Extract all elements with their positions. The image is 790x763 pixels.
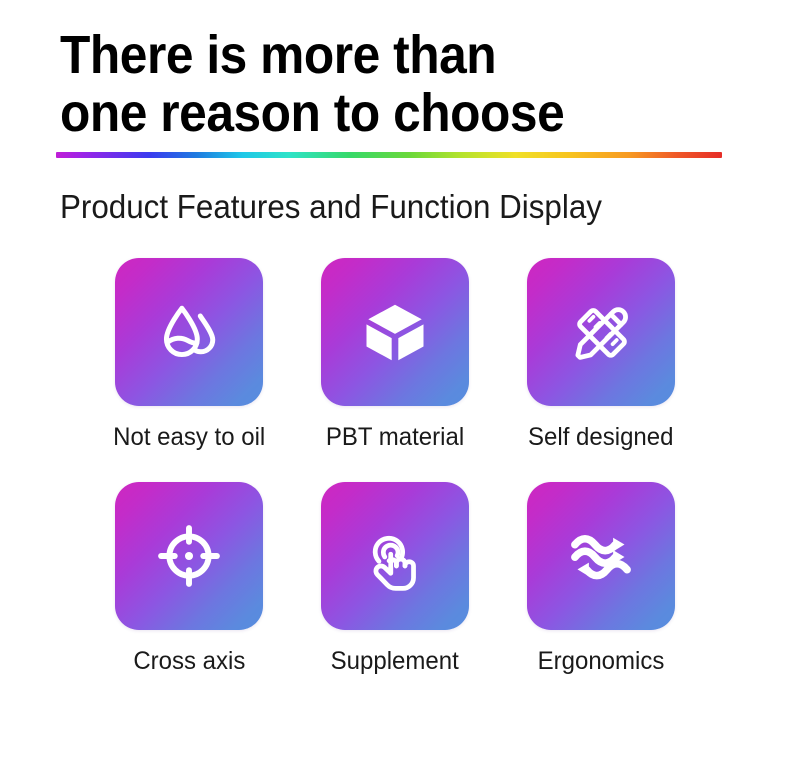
hand-tap-icon — [357, 518, 433, 594]
feature-tile — [527, 258, 675, 406]
feature-label: Supplement — [331, 646, 459, 676]
feature-label: Self designed — [528, 422, 673, 452]
feature-item-not-easy-to-oil[interactable]: Not easy to oil — [115, 258, 263, 452]
feature-item-supplement[interactable]: Supplement — [321, 482, 469, 676]
page-title-line-2: one reason to choose — [60, 84, 704, 142]
feature-label: Ergonomics — [538, 646, 665, 676]
cube-icon — [357, 294, 433, 370]
feature-item-self-designed[interactable]: Self designed — [527, 258, 675, 452]
page-title: There is more than one reason to choose — [60, 26, 760, 142]
water-drops-icon — [151, 294, 227, 370]
feature-tile — [115, 258, 263, 406]
airflow-waves-icon — [563, 518, 639, 594]
feature-row: Not easy to oil PBT material — [0, 258, 790, 452]
feature-label: Cross axis — [133, 646, 245, 676]
feature-item-cross-axis[interactable]: Cross axis — [115, 482, 263, 676]
rainbow-divider — [56, 152, 722, 158]
pencil-ruler-icon — [563, 294, 639, 370]
feature-label: Not easy to oil — [113, 422, 265, 452]
feature-tile — [321, 482, 469, 630]
feature-label: PBT material — [326, 422, 464, 452]
feature-row: Cross axis — [0, 482, 790, 676]
feature-tile — [527, 482, 675, 630]
feature-item-pbt-material[interactable]: PBT material — [321, 258, 469, 452]
feature-item-ergonomics[interactable]: Ergonomics — [527, 482, 675, 676]
feature-tile — [321, 258, 469, 406]
feature-tile — [115, 482, 263, 630]
page-subtitle: Product Features and Function Display — [60, 186, 725, 228]
feature-showcase-page: There is more than one reason to choose … — [0, 0, 790, 763]
feature-grid: Not easy to oil PBT material — [0, 258, 790, 706]
page-title-line-1: There is more than — [60, 26, 704, 84]
crosshair-target-icon — [151, 518, 227, 594]
